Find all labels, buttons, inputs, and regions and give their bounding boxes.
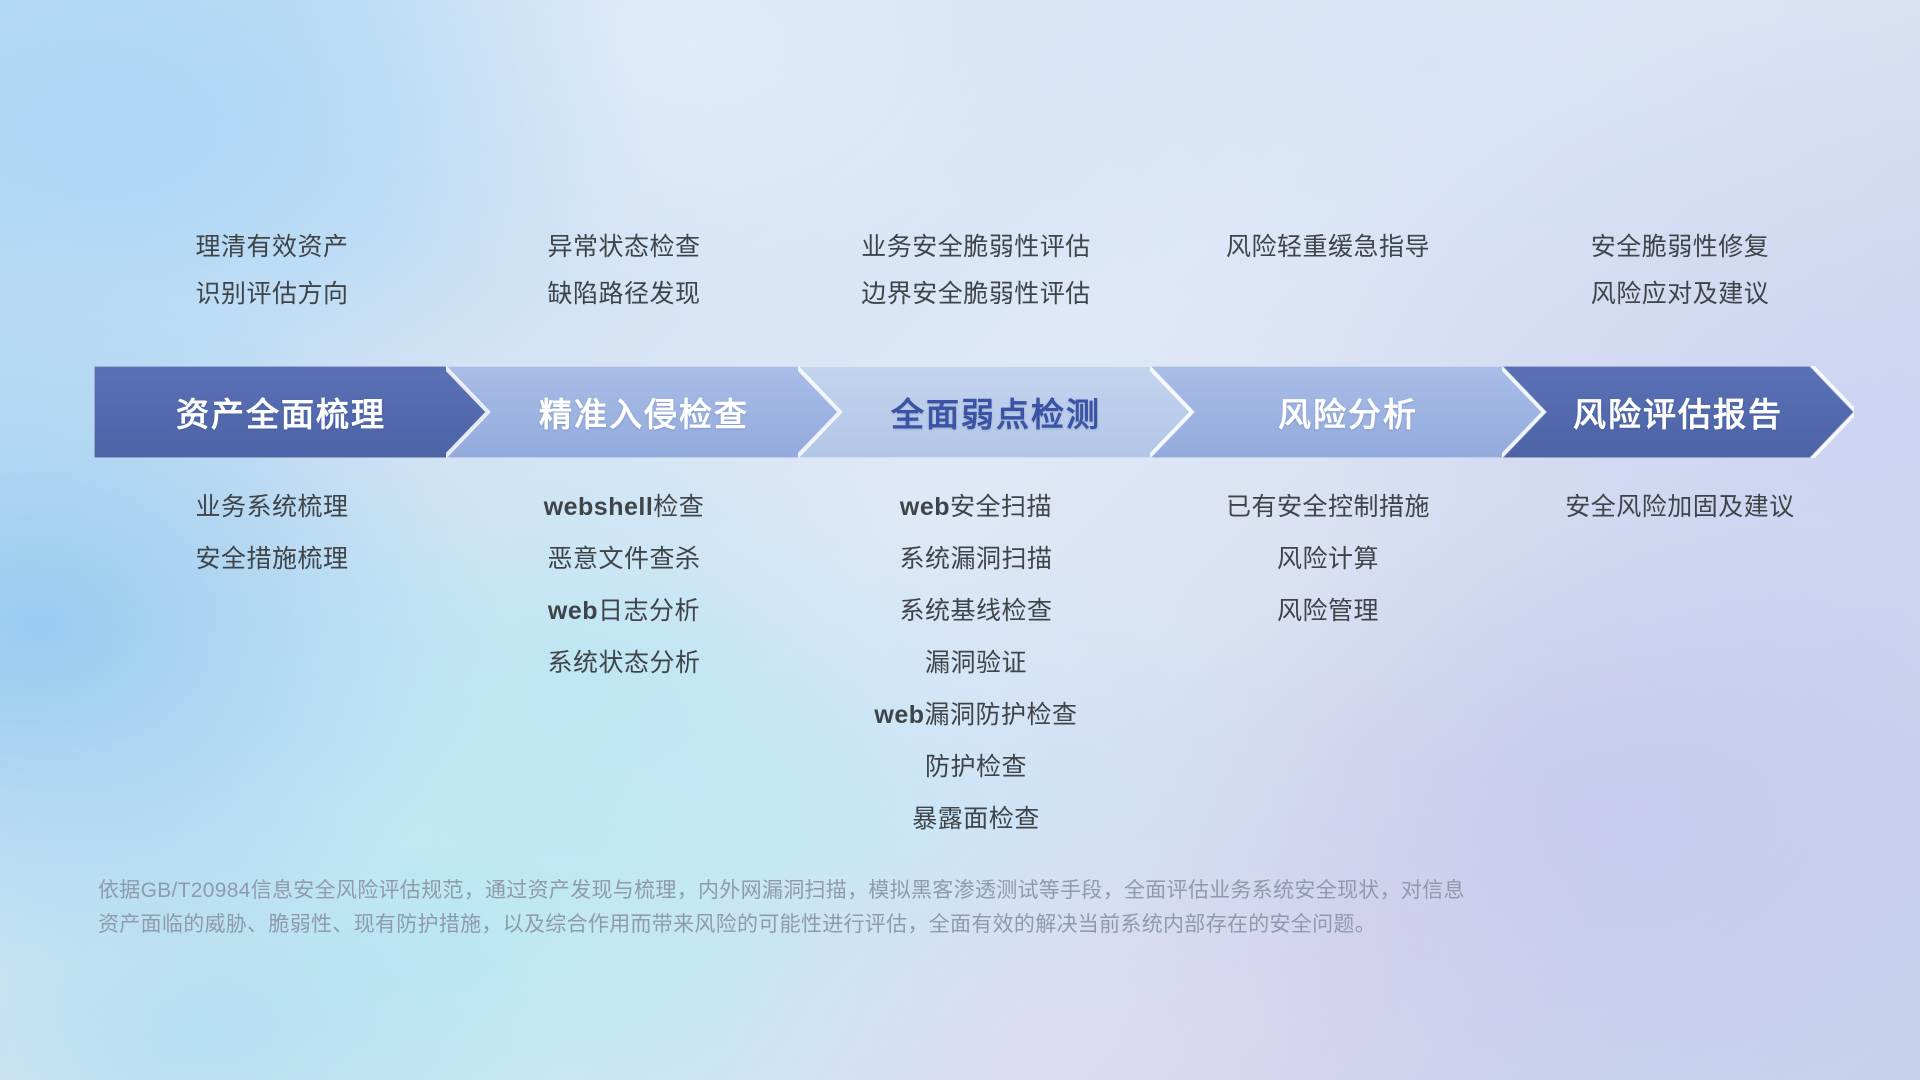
footer-line-1: 依据GB/T20984信息安全风险评估规范，通过资产发现与梳理，内外网漏洞扫描，… [98,874,1658,908]
top-item: 业务安全脆弱性评估 [861,232,1091,263]
process-diagram: 理清有效资产识别评估方向异常状态检查缺陷路径发现业务安全脆弱性评估边界安全脆弱性… [0,0,1920,1080]
bottom-column-risk-analysis: 已有安全控制措施风险计算风险管理 [1148,492,1508,626]
top-item: 风险轻重缓急指导 [1226,232,1430,263]
chevron-label-intrusion-check: 精准入侵检查 [539,388,749,436]
chevron-stage-weakness-detection[interactable]: 全面弱点检测 [798,366,1194,458]
top-item: 异常状态检查 [547,232,700,263]
chevron-stage-risk-report[interactable]: 风险评估报告 [1502,366,1854,458]
bottom-column-intrusion-check: webshell检查恶意文件查杀web日志分析系统状态分析 [444,492,804,678]
bottom-column-risk-report: 安全风险加固及建议 [1500,492,1860,522]
top-item: 风险应对及建议 [1591,279,1770,310]
chevron-stage-intrusion-check[interactable]: 精准入侵检查 [446,366,842,458]
bottom-item: 已有安全控制措施 [1226,492,1430,522]
top-item: 识别评估方向 [195,279,348,310]
chevron-label-weakness-detection: 全面弱点检测 [891,388,1101,436]
bottom-item: web漏洞防护检查 [874,700,1077,730]
bottom-item: 系统漏洞扫描 [899,544,1052,574]
bottom-item: 暴露面检查 [912,804,1040,834]
top-item: 缺陷路径发现 [547,279,700,310]
chevron-stage-risk-analysis[interactable]: 风险分析 [1150,366,1546,458]
bottom-column-weakness-detection: web安全扫描系统漏洞扫描系统基线检查漏洞验证web漏洞防护检查防护检查暴露面检… [796,492,1156,834]
top-column-risk-analysis: 风险轻重缓急指导 [1158,232,1498,263]
bottom-item: web日志分析 [548,596,700,626]
bottom-item: 漏洞验证 [925,648,1027,678]
top-column-asset-inventory: 理清有效资产识别评估方向 [102,232,442,311]
bottom-item: webshell检查 [544,492,705,522]
bottom-item: 业务系统梳理 [195,492,348,522]
chevron-label-asset-inventory: 资产全面梳理 [176,388,386,436]
bottom-item: 恶意文件查杀 [547,544,700,574]
bottom-item: 安全风险加固及建议 [1565,492,1795,522]
chevron-band: 资产全面梳理精准入侵检查全面弱点检测风险分析风险评估报告 [94,366,1854,458]
chevron-label-risk-analysis: 风险分析 [1278,388,1418,436]
bottom-column-asset-inventory: 业务系统梳理安全措施梳理 [92,492,452,574]
bottom-item: 系统基线检查 [899,596,1052,626]
bottom-item: 安全措施梳理 [195,544,348,574]
bottom-item: 风险计算 [1277,544,1379,574]
bottom-item: web安全扫描 [900,492,1052,522]
footer-line-2: 资产面临的威胁、脆弱性、现有防护措施，以及综合作用而带来风险的可能性进行评估，全… [98,908,1658,942]
top-item: 安全脆弱性修复 [1591,232,1770,263]
footer-description: 依据GB/T20984信息安全风险评估规范，通过资产发现与梳理，内外网漏洞扫描，… [98,874,1658,942]
bottom-item: 防护检查 [925,752,1027,782]
top-column-risk-report: 安全脆弱性修复风险应对及建议 [1510,232,1850,311]
chevron-stage-asset-inventory[interactable]: 资产全面梳理 [94,366,490,458]
chevron-label-risk-report: 风险评估报告 [1573,388,1783,436]
bottom-item: 系统状态分析 [547,648,700,678]
top-column-intrusion-check: 异常状态检查缺陷路径发现 [454,232,794,311]
top-item: 理清有效资产 [195,232,348,263]
top-item: 边界安全脆弱性评估 [861,279,1091,310]
top-column-weakness-detection: 业务安全脆弱性评估边界安全脆弱性评估 [806,232,1146,311]
bottom-item: 风险管理 [1277,596,1379,626]
